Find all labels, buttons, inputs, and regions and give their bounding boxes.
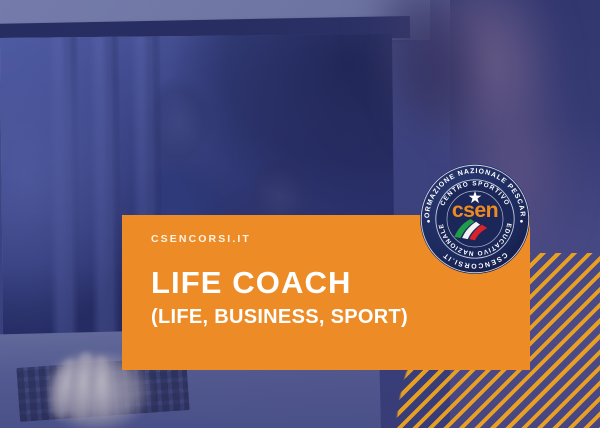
banner-root: CSENCORSI.IT LIFE COACH (LIFE, BUSINESS,… [0, 0, 600, 428]
course-subtitle: (LIFE, BUSINESS, SPORT) [151, 307, 530, 327]
foreground-person-hair [392, 8, 482, 138]
csen-badge: FORMAZIONE NAZIONALE PESCARA CSENCORSI.I… [419, 163, 531, 275]
badge-wordmark: csen [452, 198, 498, 222]
